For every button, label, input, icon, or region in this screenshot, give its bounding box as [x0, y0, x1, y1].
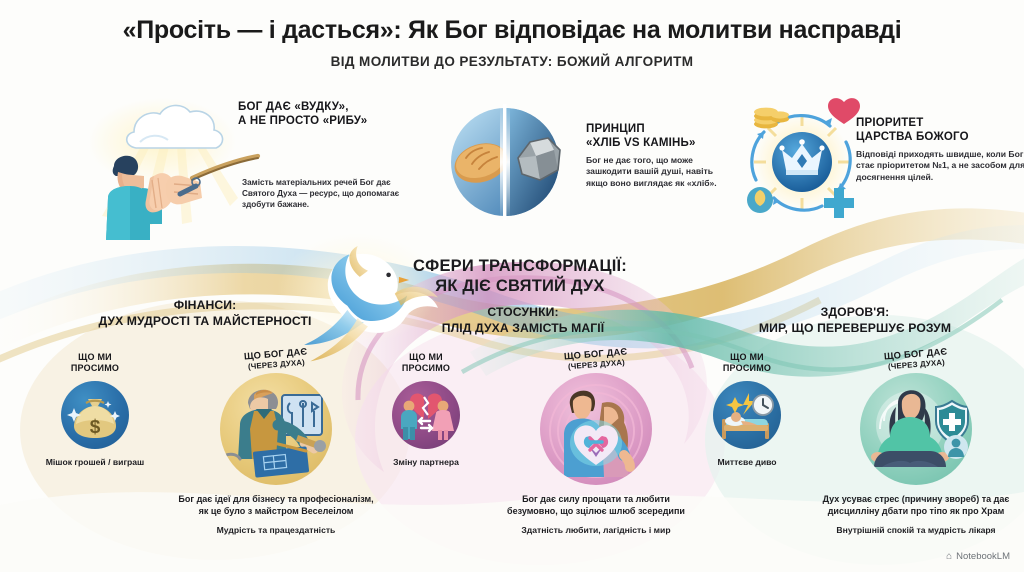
ask-label-line2: ПРОСИМО [372, 363, 480, 374]
panel-kingdom-text: ПРІОРИТЕТ ЦАРСТВА БОЖОГО Відповіді прихо… [856, 116, 1024, 183]
infographic-canvas: «Просіть — і дасться»: Як Бог відповідає… [0, 0, 1024, 572]
panel-bread-title-line2: «ХЛІБ VS КАМІНЬ» [586, 136, 736, 150]
ask-label-line2: ПРОСИМО [692, 363, 802, 374]
give-caption2-relationships: Здатність любити, лагідність і мир [498, 525, 694, 536]
ask-label-finances: ЩО МИ ПРОСИМО [40, 352, 150, 374]
panel-bread-body: Бог не дає того, що може зашкодити вашій… [586, 155, 736, 189]
column-finances-line1: ФІНАНСИ: [40, 298, 370, 314]
ask-label-line1: ЩО МИ [40, 352, 150, 363]
column-heading-health: ЗДОРОВ'Я: МИР, ЩО ПЕРЕВЕРШУЄ РОЗУМ [700, 305, 1010, 337]
ask-caption-relationships: Зміну партнера [372, 457, 480, 468]
ask-caption-health: Миттєве диво [692, 457, 802, 468]
panel-bread-text: ПРИНЦИП «ХЛІБ VS КАМІНЬ» Бог не дає того… [586, 122, 736, 189]
svg-text:$: $ [90, 417, 101, 438]
panel-kingdom-title-line1: ПРІОРИТЕТ [856, 116, 1024, 130]
panel-bread-vs-stone: ПРИНЦИП «ХЛІБ VS КАМІНЬ» Бог не дає того… [430, 104, 730, 224]
ask-label-health: ЩО МИ ПРОСИМО [692, 352, 802, 374]
ask-label-relationships: ЩО МИ ПРОСИМО [372, 352, 480, 374]
column-finances-line2: ДУХ МУДРОСТІ ТА МАЙСТЕРНОСТІ [40, 314, 370, 330]
column-relationships-line2: ПЛІД ДУХА ЗАМІСТЬ МАГІЇ [378, 321, 668, 337]
give-caption-finances: Бог дає ідеї для бізнесу та професіоналі… [178, 494, 374, 517]
page-subtitle: ВІД МОЛИТВИ ДО РЕЗУЛЬТАТУ: БОЖИЙ АЛГОРИТ… [0, 54, 1024, 69]
give-caption2-health: Внутрішній спокій та мудрість лікаря [818, 525, 1014, 536]
ask-label-line1: ЩО МИ [372, 352, 480, 363]
panel-kingdom-body: Відповіді приходять швидше, коли Бог ста… [856, 149, 1024, 183]
ask-caption-finances: Мішок грошей / виграш [40, 457, 150, 468]
notebooklm-glyph-icon: ⌂ [946, 551, 952, 562]
crown-cycle-icon [738, 96, 868, 224]
ask-block-health: ЩО МИ ПРОСИМО Миттєве диво [692, 352, 802, 468]
column-relationships-line1: СТОСУНКИ: [378, 305, 668, 321]
panel-rod-not-fish: БОГ ДАЄ «ВУДКУ», А НЕ ПРОСТО «РИБУ» Замі… [90, 96, 420, 241]
notebooklm-label: NotebookLM [956, 551, 1010, 562]
give-block-health: ЩО БОГ ДАЄ (ЧЕРЕЗ ДУХА) [818, 348, 1014, 536]
column-health-line1: ЗДОРОВ'Я: [700, 305, 1010, 321]
give-block-relationships: ЩО БОГ ДАЄ (ЧЕРЕЗ ДУХА) [498, 348, 694, 536]
craftsman-workbench-icon [220, 373, 332, 485]
give-caption2-finances: Мудрість та працездатність [178, 525, 374, 536]
panel-rod-text: БОГ ДАЄ «ВУДКУ», А НЕ ПРОСТО «РИБУ» [238, 100, 420, 128]
panel-bread-title-line1: ПРИНЦИП [586, 122, 736, 136]
column-heading-relationships: СТОСУНКИ: ПЛІД ДУХА ЗАМІСТЬ МАГІЇ [378, 305, 668, 337]
panel-rod-title-line1: БОГ ДАЄ «ВУДКУ», [238, 100, 420, 114]
bread-and-stone-icon [430, 104, 580, 222]
notebooklm-watermark: ⌂ NotebookLM [946, 551, 1010, 562]
page-title: «Просіть — і дасться»: Як Бог відповідає… [0, 16, 1024, 45]
ask-label-line1: ЩО МИ [692, 352, 802, 363]
section-heading-line2: ЯК ДІЄ СВЯТИЙ ДУХ [330, 276, 710, 296]
column-heading-finances: ФІНАНСИ: ДУХ МУДРОСТІ ТА МАЙСТЕРНОСТІ [40, 298, 370, 330]
ask-block-finances: ЩО МИ ПРОСИМО $ Мішок грошей / виграш [40, 352, 150, 468]
panel-rod-note: Замість матеріальних речей Бог дає Свято… [242, 178, 418, 211]
give-caption-health: Дух усуває стрес (причину звореб) та дає… [818, 494, 1014, 517]
header: «Просіть — і дасться»: Як Бог відповідає… [0, 16, 1024, 69]
section-heading: СФЕРИ ТРАНСФОРМАЦІЇ: ЯК ДІЄ СВЯТИЙ ДУХ [330, 256, 710, 297]
section-heading-line1: СФЕРИ ТРАНСФОРМАЦІЇ: [330, 256, 710, 276]
column-health-line2: МИР, ЩО ПЕРЕВЕРШУЄ РОЗУМ [700, 321, 1010, 337]
money-bag-icon: $ [61, 381, 129, 449]
panel-rod-title-line2: А НЕ ПРОСТО «РИБУ» [238, 114, 420, 128]
embracing-couple-heart-icon [540, 373, 652, 485]
give-block-finances: ЩО БОГ ДАЄ (ЧЕРЕЗ ДУХА) [178, 348, 374, 536]
give-caption-relationships: Бог дає силу прощати та любити безумовно… [498, 494, 694, 517]
broken-heart-couple-icon [392, 381, 460, 449]
ask-block-relationships: ЩО МИ ПРОСИМО [372, 352, 480, 468]
panel-kingdom-title-line2: ЦАРСТВА БОЖОГО [856, 130, 1024, 144]
panel-kingdom-priority: ПРІОРИТЕТ ЦАРСТВА БОЖОГО Відповіді прихо… [738, 96, 1024, 226]
ask-label-line2: ПРОСИМО [40, 363, 150, 374]
sick-person-in-bed-icon [713, 381, 781, 449]
meditating-woman-icon [860, 373, 972, 485]
